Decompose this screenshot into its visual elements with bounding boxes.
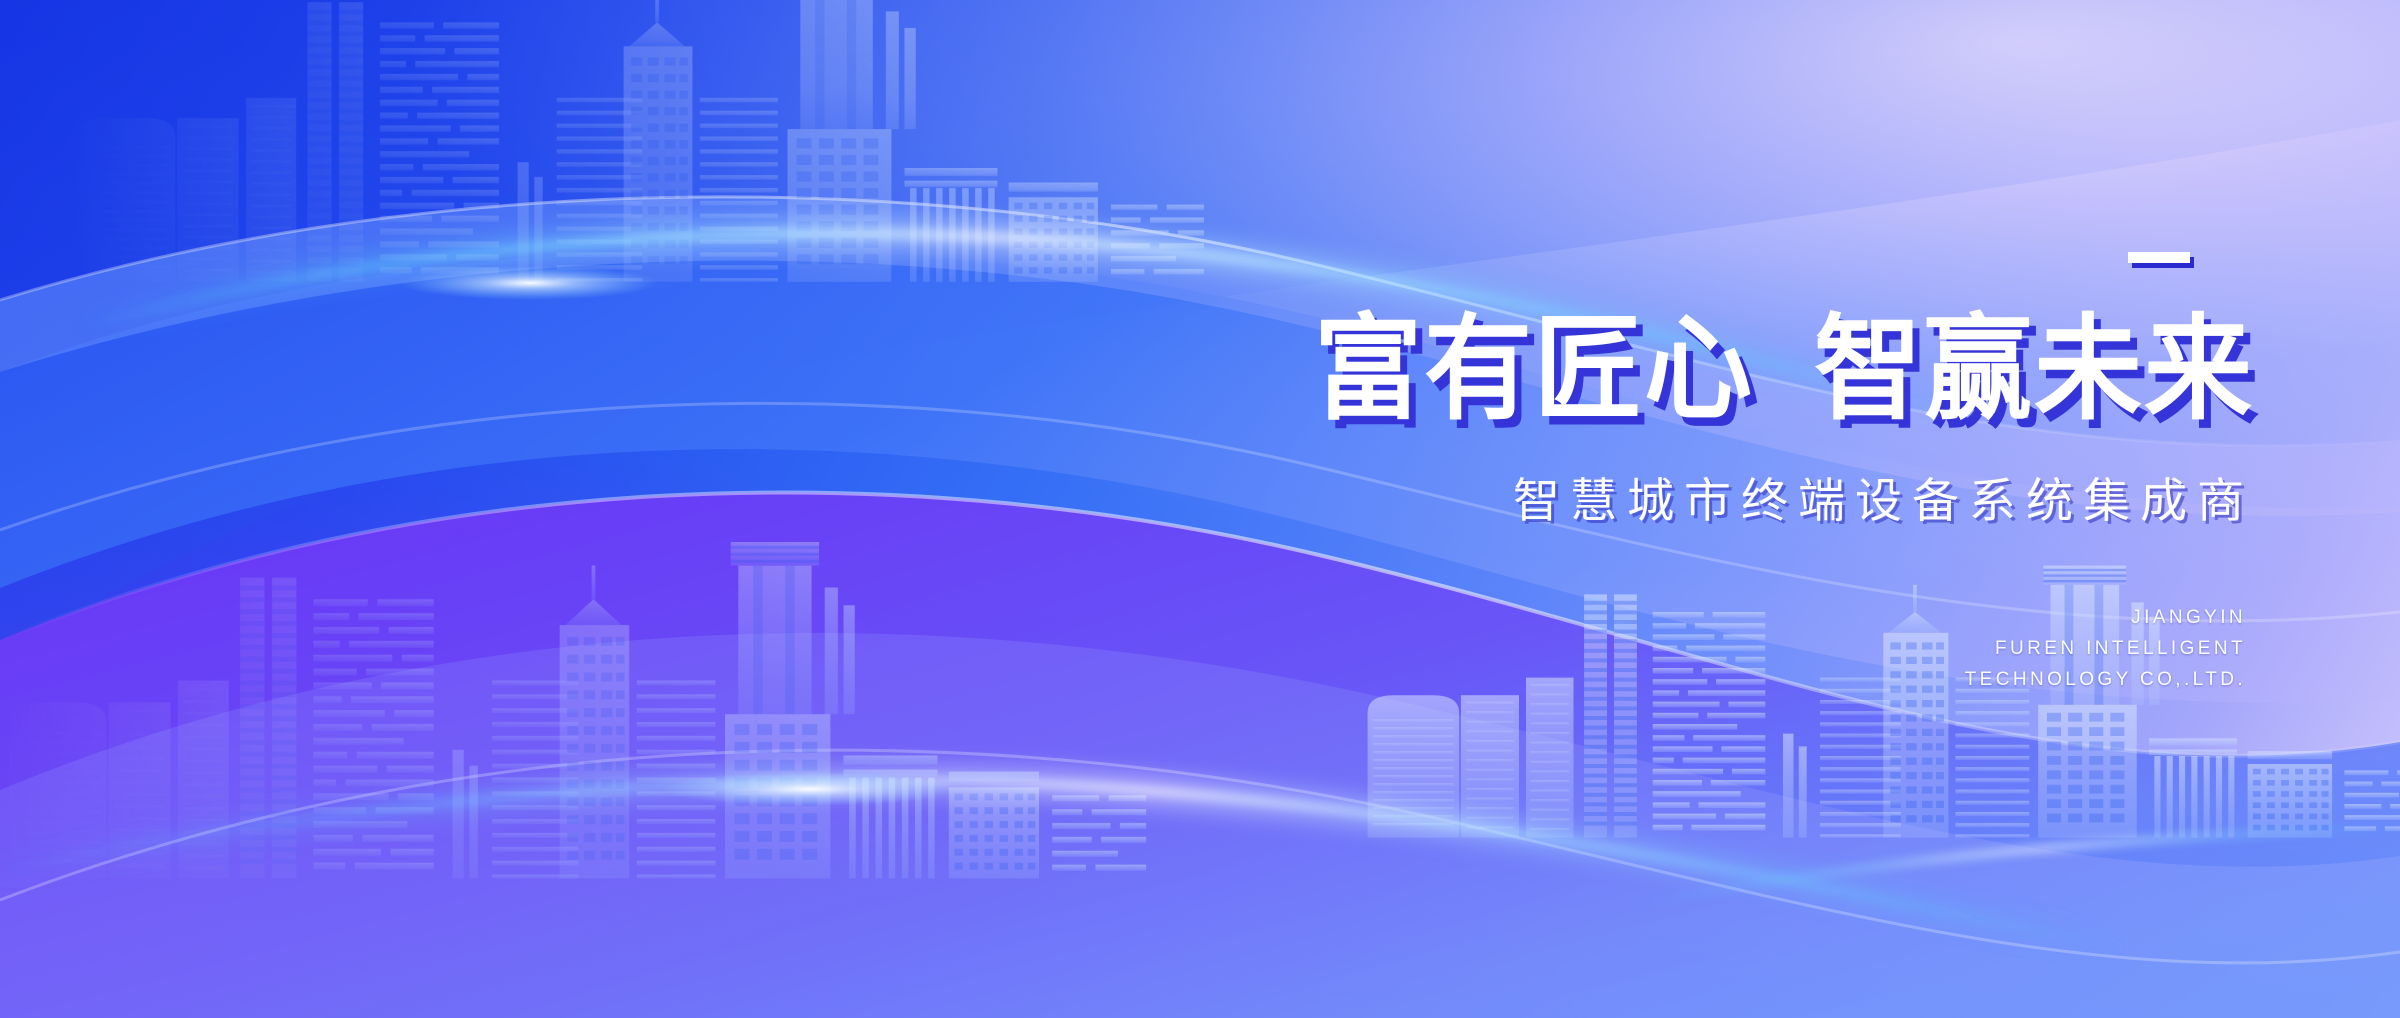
company-line-1: JIANGYIN <box>1334 603 2246 634</box>
page-title: 富有匠心 智赢未来 <box>1334 313 2254 432</box>
glow-arc-lower-halo <box>0 780 2130 950</box>
glow-arc-lower-core <box>0 780 2130 950</box>
company-line-3: TECHNOLOGY CO,.LTD. <box>1334 665 2246 696</box>
banner-canvas: 富有匠心 智赢未来 智慧城市终端设备系统集成商 JIANGYIN FUREN I… <box>0 0 2400 1018</box>
company-name-block: JIANGYIN FUREN INTELLIGENT TECHNOLOGY CO… <box>1334 603 2246 695</box>
accent-dash-icon <box>2128 252 2190 263</box>
glow-hotspot-upper <box>400 266 660 300</box>
headline-block: 富有匠心 智赢未来 智慧城市终端设备系统集成商 JIANGYIN FUREN I… <box>1334 252 2254 695</box>
headline-part-1: 富有匠心 <box>1314 313 1754 427</box>
subtitle: 智慧城市终端设备系统集成商 <box>1334 462 2254 531</box>
glow-hotspot-lower <box>660 772 960 806</box>
headline-part-2: 智赢未来 <box>1814 313 2254 427</box>
company-line-2: FUREN INTELLIGENT <box>1334 634 2246 665</box>
